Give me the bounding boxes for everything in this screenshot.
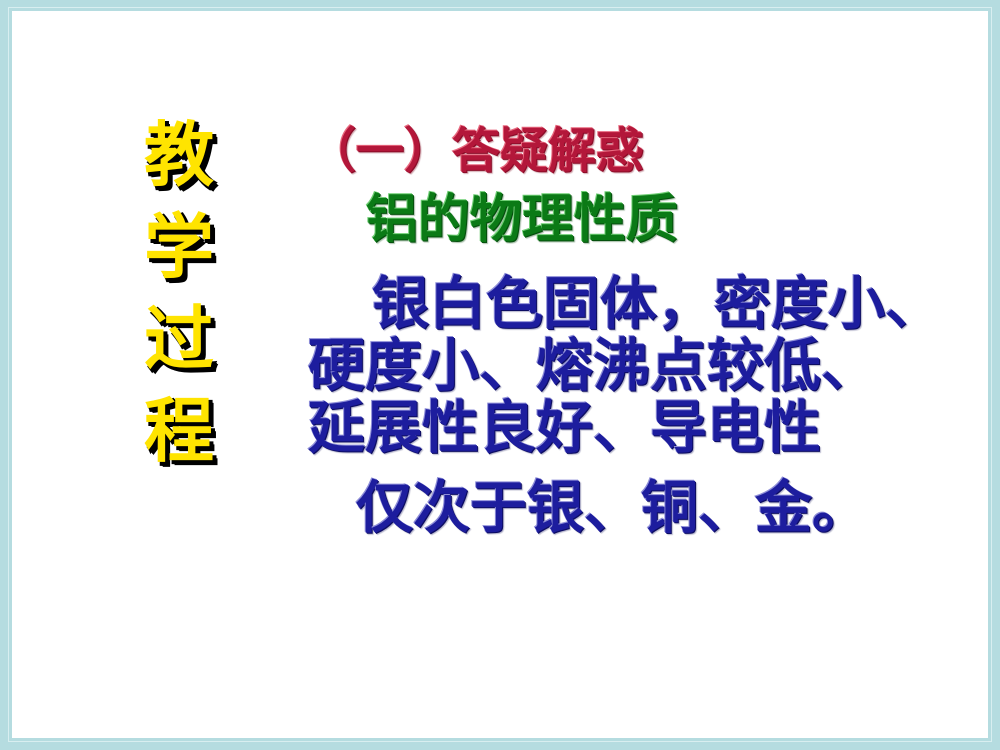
body-line-3: 延展性良好、导电性 <box>308 397 988 459</box>
vertical-title-char-4: 程 <box>144 385 214 477</box>
body-text: 银白色固体，密度小、 硬度小、熔沸点较低、 延展性良好、导电性 仅次于银、铜、金… <box>308 273 988 539</box>
vertical-title-char-3: 过 <box>144 293 214 385</box>
slide-canvas: 教 学 过 程 （一）答疑解惑 铝的物理性质 银白色固体，密度小、 硬度小、熔沸… <box>0 0 1000 750</box>
vertical-title: 教 学 过 程 <box>124 109 234 477</box>
vertical-title-char-1: 教 <box>144 109 214 201</box>
section-heading: （一）答疑解惑 <box>308 123 988 179</box>
slide-content-area: 教 学 过 程 （一）答疑解惑 铝的物理性质 银白色固体，密度小、 硬度小、熔沸… <box>12 11 988 738</box>
body-line-1: 银白色固体，密度小、 <box>372 273 988 335</box>
body-line-4: 仅次于银、铜、金。 <box>356 477 988 539</box>
body-column: （一）答疑解惑 铝的物理性质 银白色固体，密度小、 硬度小、熔沸点较低、 延展性… <box>308 123 988 539</box>
body-line-2: 硬度小、熔沸点较低、 <box>308 335 988 397</box>
vertical-title-char-2: 学 <box>144 201 214 293</box>
topic-heading: 铝的物理性质 <box>366 189 988 251</box>
